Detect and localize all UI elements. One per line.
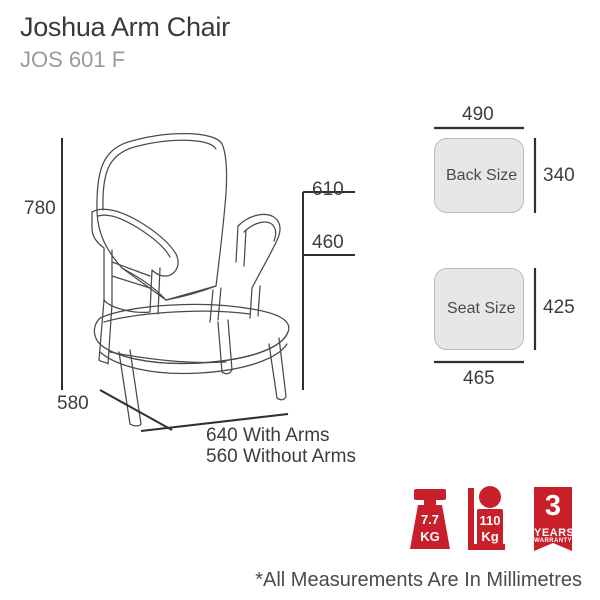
weight-value: 7.7 — [410, 512, 450, 527]
max-load-unit: Kg — [475, 529, 505, 544]
warranty-years-number: 3 — [534, 492, 572, 521]
spec-icons-group — [0, 0, 600, 600]
product-spec-sheet: Joshua Arm Chair JOS 601 F — [0, 0, 600, 600]
weight-unit: KG — [410, 529, 450, 544]
warranty-word-label: WARRANTY — [534, 538, 572, 544]
measurement-note: *All Measurements Are In Millimetres — [255, 569, 582, 592]
max-load-value: 110 — [475, 513, 505, 528]
